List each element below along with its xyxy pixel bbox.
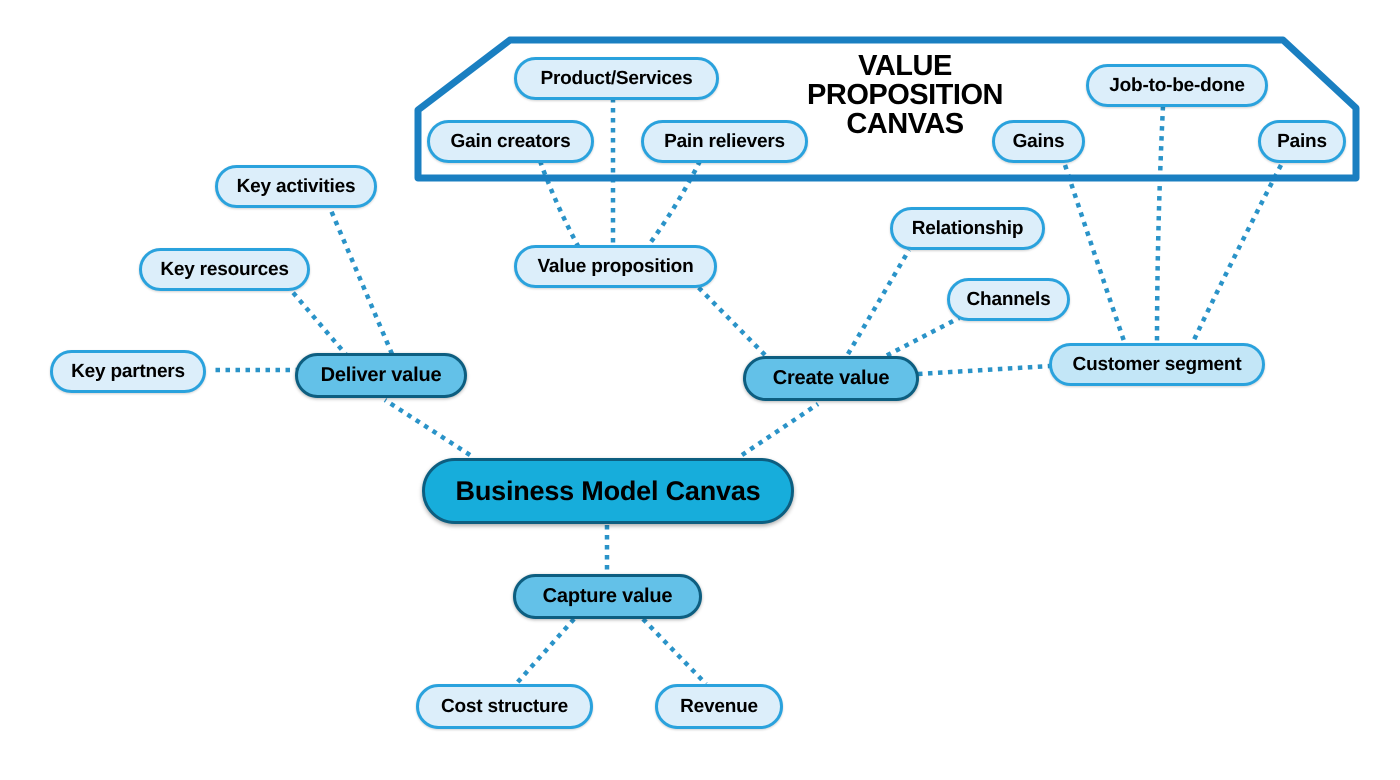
node-relationship[interactable]: Relationship bbox=[890, 207, 1045, 250]
node-pains-label: Pains bbox=[1277, 131, 1327, 153]
node-channels-label: Channels bbox=[967, 289, 1051, 311]
node-cost-structure-label: Cost structure bbox=[441, 696, 568, 718]
node-gain-creators[interactable]: Gain creators bbox=[427, 120, 594, 163]
node-channels[interactable]: Channels bbox=[947, 278, 1070, 321]
node-key-resources-label: Key resources bbox=[160, 259, 288, 281]
node-cost-structure[interactable]: Cost structure bbox=[416, 684, 593, 729]
edge-create-channels bbox=[878, 318, 959, 360]
node-revenue-label: Revenue bbox=[680, 696, 758, 718]
edge-gain-creators-value-proposition bbox=[540, 161, 578, 246]
edge-capture-revenue bbox=[643, 619, 706, 684]
node-customer-segment-label: Customer segment bbox=[1073, 354, 1242, 376]
node-customer-segment[interactable]: Customer segment bbox=[1049, 343, 1265, 386]
node-revenue[interactable]: Revenue bbox=[655, 684, 783, 729]
node-pain-relievers[interactable]: Pain relievers bbox=[641, 120, 808, 163]
node-capture-value[interactable]: Capture value bbox=[513, 574, 702, 619]
value-proposition-canvas-title: VALUE PROPOSITION CANVAS bbox=[780, 52, 1030, 139]
edge-capture-cost-structure bbox=[516, 619, 574, 684]
edge-deliver-key-activities bbox=[327, 201, 392, 354]
node-create-value-label: Create value bbox=[773, 367, 890, 390]
node-key-activities-label: Key activities bbox=[237, 176, 356, 198]
node-capture-value-label: Capture value bbox=[543, 585, 673, 608]
node-job-to-be-done[interactable]: Job-to-be-done bbox=[1086, 64, 1268, 107]
node-gain-creators-label: Gain creators bbox=[451, 131, 571, 153]
node-job-to-be-done-label: Job-to-be-done bbox=[1109, 75, 1244, 97]
vpc-title-line-2: PROPOSITION bbox=[780, 81, 1030, 110]
node-deliver-value[interactable]: Deliver value bbox=[295, 353, 467, 398]
node-value-proposition[interactable]: Value proposition bbox=[514, 245, 717, 288]
node-key-activities[interactable]: Key activities bbox=[215, 165, 377, 208]
node-pain-relievers-label: Pain relievers bbox=[664, 131, 785, 153]
edge-gains-customer-segment bbox=[1065, 165, 1125, 344]
node-business-model-canvas[interactable]: Business Model Canvas bbox=[422, 458, 794, 524]
edge-create-relationship bbox=[848, 250, 909, 354]
node-product-services-label: Product/Services bbox=[540, 68, 692, 90]
edge-create-customer-segment bbox=[918, 366, 1050, 374]
node-create-value[interactable]: Create value bbox=[743, 356, 919, 401]
edge-pains-customer-segment bbox=[1192, 165, 1281, 344]
node-gains[interactable]: Gains bbox=[992, 120, 1085, 163]
mindmap-canvas: VALUE PROPOSITION CANVAS Product/Service… bbox=[0, 0, 1400, 780]
node-key-resources[interactable]: Key resources bbox=[139, 248, 310, 291]
edge-create-value-proposition bbox=[698, 287, 765, 355]
edge-root-deliver-value bbox=[385, 400, 470, 455]
vpc-title-line-1: VALUE bbox=[780, 52, 1030, 81]
edge-pain-relievers-value-proposition bbox=[648, 161, 700, 246]
node-key-partners-label: Key partners bbox=[71, 361, 185, 383]
node-value-proposition-label: Value proposition bbox=[537, 256, 693, 278]
node-gains-label: Gains bbox=[1013, 131, 1065, 153]
node-deliver-value-label: Deliver value bbox=[321, 364, 442, 387]
node-product-services[interactable]: Product/Services bbox=[514, 57, 719, 100]
edge-job-to-be-done-customer-segment bbox=[1157, 106, 1163, 344]
node-business-model-canvas-label: Business Model Canvas bbox=[456, 476, 761, 507]
node-key-partners[interactable]: Key partners bbox=[50, 350, 206, 393]
connector-layer bbox=[0, 0, 1400, 780]
node-pains[interactable]: Pains bbox=[1258, 120, 1346, 163]
edge-root-create-value bbox=[742, 404, 818, 455]
node-relationship-label: Relationship bbox=[912, 218, 1024, 240]
edge-deliver-key-resources bbox=[290, 289, 348, 357]
value-proposition-canvas-outline bbox=[0, 0, 1400, 780]
